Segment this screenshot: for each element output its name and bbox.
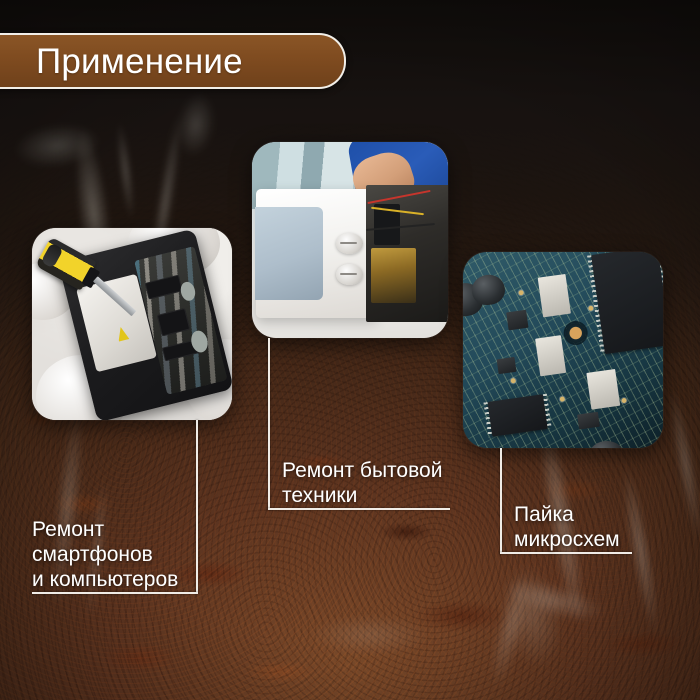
caption-appliance-repair: Ремонт бытовой техники [282, 458, 442, 508]
microwave-transformer [371, 248, 416, 303]
pcb-via-1 [518, 290, 524, 296]
leader-line-horizontal-smartphone [32, 592, 198, 594]
circuit-board-components [463, 252, 663, 448]
microwave-internals [366, 185, 448, 322]
pcb-diode-1 [506, 310, 529, 330]
pcb-mount-hole [565, 322, 588, 345]
caption-smartphone-repair: Ремонт смартфонов и компьютеров [32, 517, 178, 592]
caption-chip-soldering: Пайка микросхем [514, 502, 620, 552]
microwave-knob-upper [336, 233, 363, 254]
pcb-small-ic [487, 393, 548, 436]
pcb-via-4 [559, 395, 565, 401]
pcb-via-5 [621, 397, 627, 403]
microwave-photo-backdrop [252, 142, 448, 338]
title-banner: Применение [0, 33, 346, 89]
microwave-door-window [255, 207, 323, 300]
pcb-via-3 [510, 377, 516, 383]
pcb-resistor-2 [536, 335, 567, 376]
microwave-casing [256, 189, 378, 318]
page-title: Применение [0, 44, 243, 79]
microwave-knob-lower [336, 264, 363, 285]
infographic-slide: Применение [0, 0, 700, 700]
leader-line-vertical-appliance [268, 338, 270, 510]
pcb-capacitor-3 [586, 438, 626, 448]
photo-microwave-repair [252, 142, 448, 338]
circuit-board-surface [463, 252, 663, 448]
leader-line-horizontal-soldering [500, 552, 632, 554]
pcb-large-ic [591, 252, 663, 354]
leader-line-vertical-smartphone [196, 420, 198, 592]
pcb-via-2 [588, 305, 594, 311]
pcb-resistor-1 [537, 274, 570, 318]
pcb-resistor-3 [587, 368, 620, 409]
pcb-diode-3 [577, 411, 599, 429]
smartphone-photo-backdrop [32, 228, 232, 420]
smartphone-mainboard [134, 246, 227, 395]
photo-smartphone-repair [32, 228, 232, 420]
pcb-diode-2 [497, 357, 517, 374]
wire-red [368, 190, 431, 204]
photo-circuit-board [463, 252, 663, 448]
leader-line-horizontal-appliance [268, 508, 450, 510]
leader-line-vertical-soldering [500, 448, 502, 554]
